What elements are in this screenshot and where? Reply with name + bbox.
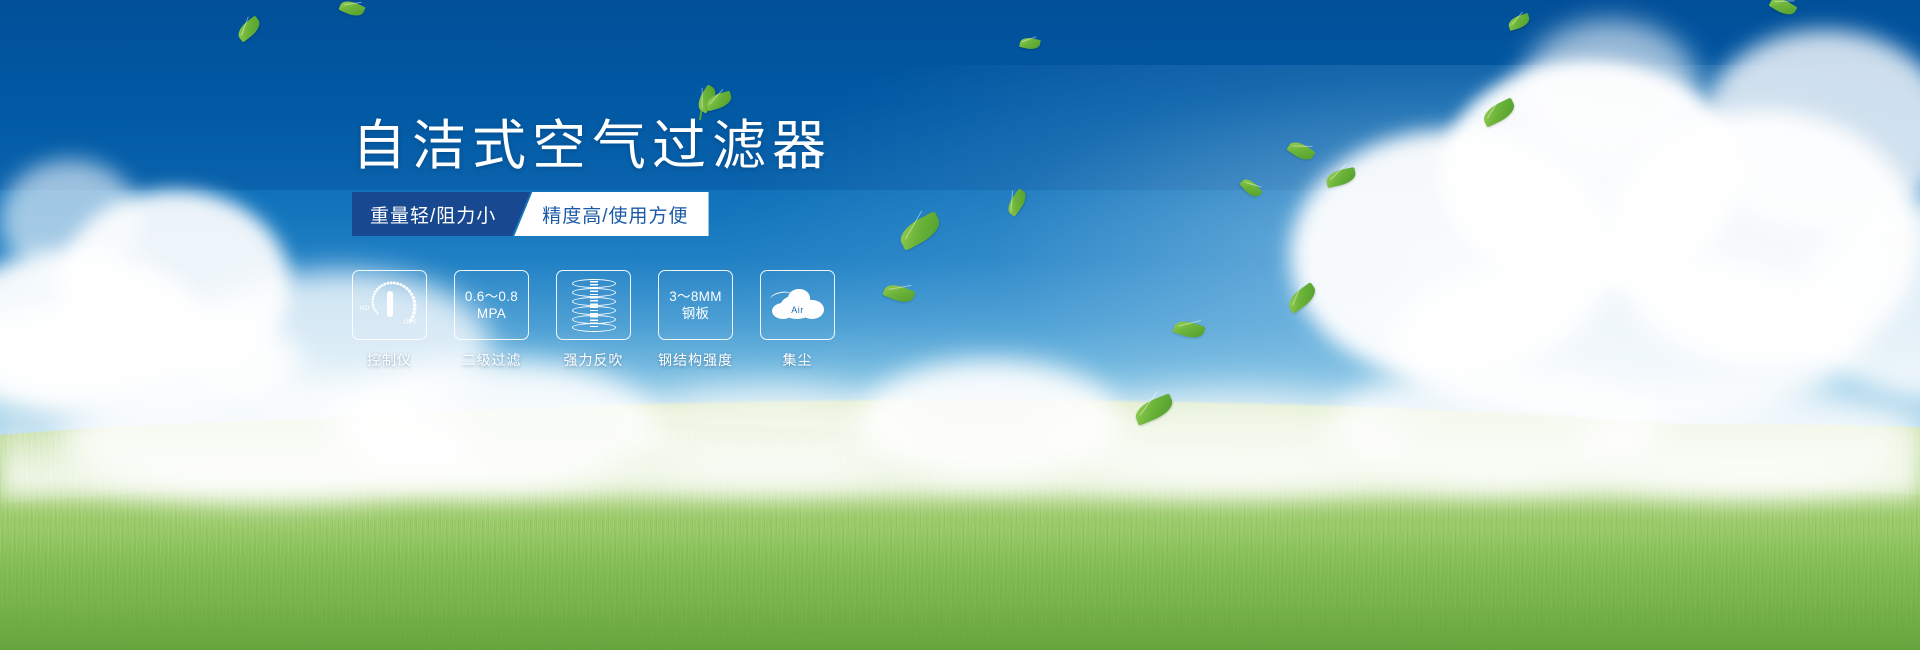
steel-material: 钢板 [669, 305, 722, 322]
tag-lightweight-lowresistance: 重量轻/阻力小 [352, 192, 530, 236]
air-label: Air [770, 305, 826, 315]
feature-icon-row: NO OFF 控制仪 0.6～0.8 MPA 二级过滤 [352, 270, 835, 370]
gauge-dial-icon: NO OFF [361, 279, 419, 331]
feature-label-two-stage-filter: 二级过滤 [462, 350, 522, 370]
feature-box-pressure: 0.6～0.8 MPA [454, 270, 529, 340]
feature-label-controller: 控制仪 [367, 350, 412, 370]
feature-box-steel: 3～8MM 钢板 [658, 270, 733, 340]
page-title: 自洁式空气过滤器 [352, 118, 832, 175]
tag-highprecision-easyuse: 精度高/使用方便 [514, 192, 708, 236]
tagline-row: 重量轻/阻力小 精度高/使用方便 [352, 192, 709, 236]
feature-item-strong-backblow: 强力反吹 [556, 270, 631, 370]
feature-item-steel-strength: 3～8MM 钢板 钢结构强度 [658, 270, 733, 370]
feature-label-dust-collection: 集尘 [783, 350, 813, 370]
cloud-band-horizon [0, 330, 1920, 490]
feature-label-steel-strength: 钢结构强度 [658, 350, 733, 370]
grass-shading [0, 530, 1920, 650]
steel-thickness: 3～8MM [669, 288, 722, 305]
hero-banner: 自洁式空气过滤器 重量轻/阻力小 精度高/使用方便 NO OFF 控制仪 [0, 0, 1920, 650]
pressure-unit: MPA [465, 305, 518, 322]
gauge-label-no: NO [360, 305, 370, 312]
feature-item-two-stage-filter: 0.6～0.8 MPA 二级过滤 [454, 270, 529, 370]
gauge-label-off: OFF [404, 319, 418, 326]
feature-label-strong-backblow: 强力反吹 [564, 350, 624, 370]
feature-item-controller: NO OFF 控制仪 [352, 270, 427, 370]
air-cloud-icon: Air [770, 283, 826, 327]
steel-plate-icon: 3～8MM 钢板 [669, 288, 722, 323]
feature-box-air: Air [760, 270, 835, 340]
feature-item-dust-collection: Air 集尘 [760, 270, 835, 370]
filter-coil-icon [572, 278, 616, 332]
feature-box-coil [556, 270, 631, 340]
feature-box-controller: NO OFF [352, 270, 427, 340]
leaf-pair-ornament-icon [676, 88, 736, 128]
pressure-range: 0.6～0.8 [465, 288, 518, 305]
pressure-value-icon: 0.6～0.8 MPA [465, 288, 518, 323]
